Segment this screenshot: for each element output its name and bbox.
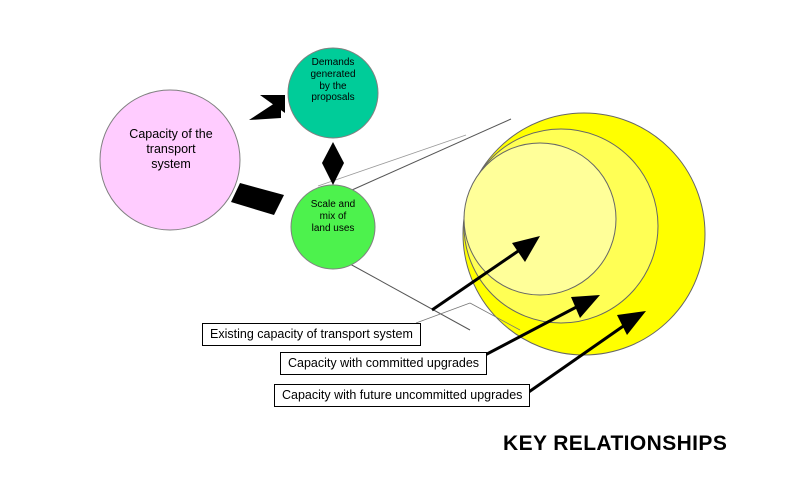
callout-existing-capacity[interactable]: Existing capacity of transport system <box>202 323 421 346</box>
diagram-canvas: Capacity of the transport system Demands… <box>0 0 791 486</box>
diagram-graphics <box>0 0 791 486</box>
diagram-title: KEY RELATIONSHIPS <box>503 432 727 456</box>
circle-transport-capacity[interactable] <box>100 90 240 230</box>
circle-scale-and-mix[interactable] <box>291 185 375 269</box>
callout-committed-capacity[interactable]: Capacity with committed upgrades <box>280 352 487 375</box>
connector-pink-teal-double-arrow[interactable] <box>249 95 285 120</box>
circle-demands-generated[interactable] <box>288 48 378 138</box>
callout-future-uncommitted-capacity[interactable]: Capacity with future uncommitted upgrade… <box>274 384 530 407</box>
connector-pink-green-double-arrow[interactable] <box>231 183 284 215</box>
